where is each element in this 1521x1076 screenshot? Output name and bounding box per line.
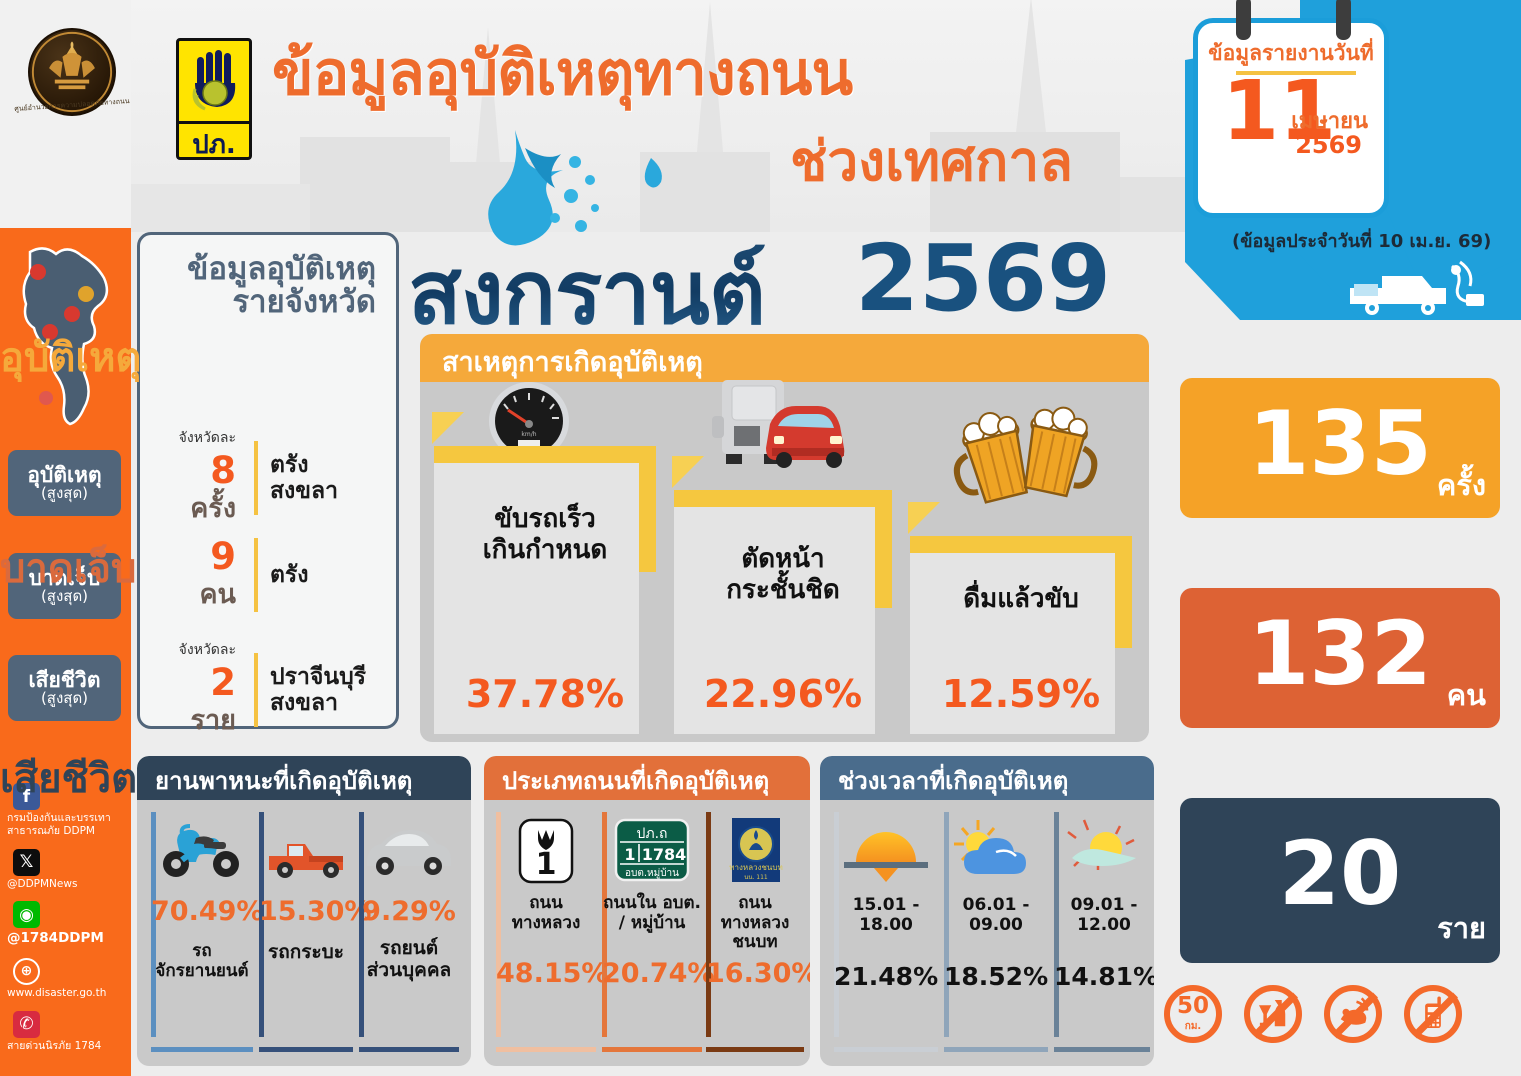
province-unit: คน bbox=[150, 572, 236, 615]
social-label: @1784DDPM bbox=[7, 930, 131, 946]
globe-icon[interactable]: ⊕ bbox=[13, 958, 40, 985]
calendar-ring-left bbox=[1236, 0, 1251, 40]
accidents-stat-unit: ครั้ง bbox=[1437, 462, 1486, 508]
svg-text:ทางหลวงชนบท: ทางหลวงชนบท bbox=[729, 863, 783, 872]
cause-percent: 37.78% bbox=[434, 672, 656, 716]
sidebar-item-deaths[interactable]: เสียชีวิต (สูงสุด) bbox=[8, 655, 121, 721]
province-unit: ครั้ง bbox=[150, 486, 236, 529]
column-base-line bbox=[496, 1047, 596, 1052]
accident-causes-chart: สาเหตุการเกิดอุบัติเหตุ km/h ขับรถเร็ว เ… bbox=[420, 334, 1149, 742]
column-base-line bbox=[834, 1047, 938, 1052]
time-col-2: 06.01 - 09.00 18.52% bbox=[944, 812, 1048, 1052]
province-title-line1: ข้อมูลอุบัติเหตุ bbox=[140, 253, 376, 286]
calendar-ring-right bbox=[1336, 0, 1351, 40]
speed-limit-value: 50 bbox=[1170, 995, 1216, 1018]
svg-text:1: 1 bbox=[536, 847, 557, 882]
vehicle-col-1: 70.49% รถจักรยานยนต์ bbox=[151, 812, 253, 1052]
temple-base bbox=[130, 184, 310, 232]
sedan-car-icon bbox=[359, 816, 459, 888]
province-names: ปราจีนบุรี สงขลา bbox=[270, 664, 366, 717]
road-percent: 16.30% bbox=[706, 958, 804, 989]
province-value-group: จังหวัดละ 8 ครั้ง bbox=[150, 427, 242, 529]
ddpm-hand-icon bbox=[191, 49, 243, 111]
vehicle-percent: 9.29% bbox=[359, 896, 459, 927]
x-twitter-icon[interactable]: 𝕏 bbox=[13, 849, 40, 876]
cause-label: ดื่มแล้วขับ bbox=[910, 584, 1132, 615]
svg-text:km/h: km/h bbox=[521, 431, 536, 438]
province-names: ตรัง สงขลา bbox=[270, 452, 338, 505]
social-line[interactable]: ◉ @1784DDPM bbox=[4, 901, 131, 946]
svg-text:นน. 111: นน. 111 bbox=[744, 874, 768, 881]
cause-label: ขับรถเร็ว เกินกำหนด bbox=[434, 504, 656, 565]
morning-sun-icon bbox=[1054, 816, 1154, 888]
sidebar-item-label: อุบัติเหตุ bbox=[27, 464, 101, 486]
time-label: 06.01 - 09.00 bbox=[944, 896, 1048, 935]
province-row-injuries: 9 คน ตรัง bbox=[150, 535, 392, 615]
svg-text:1784: 1784 bbox=[642, 845, 687, 864]
svg-text:อบต.หมู่บ้าน: อบต.หมู่บ้าน bbox=[625, 867, 679, 879]
social-label: www.disaster.go.th bbox=[7, 987, 131, 1000]
social-label: สายด่วนนิรภัย 1784 bbox=[7, 1040, 131, 1053]
province-names: ตรัง bbox=[270, 562, 309, 588]
column-base-line bbox=[259, 1047, 353, 1052]
page-title-line1: ข้อมูลอุบัติเหตุทางถนน bbox=[272, 24, 852, 121]
ddpm-logo: ปภ. bbox=[176, 38, 252, 160]
temple-silhouette bbox=[300, 137, 450, 232]
deaths-stat-box: 20 ราย bbox=[1180, 798, 1500, 963]
cause-corner-triangle bbox=[672, 456, 704, 488]
time-col-3: 09.01 - 12.00 14.81% bbox=[1054, 812, 1154, 1052]
page-title-year: 2569 bbox=[855, 225, 1111, 332]
time-label: 15.01 - 18.00 bbox=[834, 896, 938, 935]
column-base-line bbox=[602, 1047, 702, 1052]
province-row-deaths: จังหวัดละ 2 ราย ปราจีนบุรี สงขลา bbox=[150, 639, 392, 741]
province-prefix: จังหวัดละ bbox=[179, 642, 236, 658]
pickup-splash-illustration bbox=[1340, 260, 1500, 322]
time-percent: 21.48% bbox=[834, 962, 938, 991]
line-icon[interactable]: ◉ bbox=[13, 901, 40, 928]
road-col-2: ปภ.ถ 1 1784 อบต.หมู่บ้าน ถนนใน อบต. / หม… bbox=[602, 812, 702, 1052]
cause-percent: 22.96% bbox=[674, 672, 892, 716]
time-col-1: 15.01 - 18.00 21.48% bbox=[834, 812, 938, 1052]
road-panel-title: ประเภทถนนที่เกิดอุบัติเหตุ bbox=[484, 756, 810, 800]
province-row-divider bbox=[254, 441, 258, 515]
road-col-1: 1 ถนนทางหลวง 48.15% bbox=[496, 812, 596, 1052]
report-date-card: ข้อมูลรายงานวันที่ 11 เมษายน 2569 bbox=[1193, 18, 1389, 218]
svg-text:ปภ.ถ: ปภ.ถ bbox=[636, 826, 667, 842]
social-hotline[interactable]: ✆ สายด่วนนิรภัย 1784 bbox=[4, 1011, 131, 1053]
truck-car-collision-icon bbox=[704, 364, 854, 496]
road-label: ถนนใน อบต. / หมู่บ้าน bbox=[602, 894, 702, 933]
hotline-phone-icon[interactable]: ✆ bbox=[13, 1011, 40, 1038]
seal-caption: ศูนย์อำนวยการความปลอดภัยทางถนน bbox=[13, 96, 134, 144]
speed-limit-unit: กม. bbox=[1170, 1019, 1216, 1034]
cause-label: ตัดหน้า กระชั้นชิด bbox=[674, 544, 892, 605]
province-title-line2: รายจังหวัด bbox=[140, 286, 376, 319]
province-value-group: จังหวัดละ 2 ราย bbox=[150, 639, 242, 741]
vehicle-label: รถจักรยานยนต์ bbox=[151, 942, 253, 981]
social-links: f กรมป้องกันและบรรเทาสาธารณภัย DDPM 𝕏 @D… bbox=[4, 783, 131, 1063]
injuries-stat-label: บาดเจ็บ bbox=[0, 536, 136, 600]
vehicle-label: รถกระบะ bbox=[259, 942, 353, 964]
deaths-stat-unit: ราย bbox=[1437, 905, 1486, 951]
time-label: 09.01 - 12.00 bbox=[1054, 896, 1154, 935]
injuries-stat-unit: คน bbox=[1447, 672, 1486, 718]
report-year: 2569 bbox=[1295, 131, 1362, 159]
page-title-line2: ช่วงเทศกาล bbox=[790, 118, 1073, 205]
accidents-stat-box: 135 ครั้ง bbox=[1180, 378, 1500, 518]
road-label: ถนนทางหลวง ชนบท bbox=[706, 894, 804, 953]
sidebar-item-accidents[interactable]: อุบัติเหตุ (สูงสุด) bbox=[8, 450, 121, 516]
social-x[interactable]: 𝕏 @DDPMNews bbox=[4, 849, 131, 891]
ddpm-abbr: ปภ. bbox=[179, 124, 249, 165]
cause-corner-triangle bbox=[432, 412, 464, 444]
injuries-stat-box: 132 คน bbox=[1180, 588, 1500, 728]
sunset-icon bbox=[834, 816, 938, 888]
vehicle-label: รถยนต์ ส่วนบุคคล bbox=[359, 938, 459, 982]
cause-bar-2: ตัดหน้า กระชั้นชิด 22.96% bbox=[674, 486, 892, 734]
time-period-chart: ช่วงเวลาที่เกิดอุบัติเหตุ 15.01 - 18.00 … bbox=[820, 756, 1154, 1066]
cause-corner-triangle bbox=[908, 502, 940, 534]
vehicle-panel-title: ยานพาหนะที่เกิดอุบัติเหตุ bbox=[137, 756, 471, 800]
social-label: กรมป้องกันและบรรเทาสาธารณภัย DDPM bbox=[7, 812, 131, 838]
time-panel-title: ช่วงเวลาที่เกิดอุบัติเหตุ bbox=[820, 756, 1154, 800]
road-col-3: ทางหลวงชนบท นน. 111 ถนนทางหลวง ชนบท 16.3… bbox=[706, 812, 804, 1052]
vehicle-percent: 70.49% bbox=[151, 896, 253, 927]
sidebar-item-sublabel: (สูงสุด) bbox=[41, 691, 88, 707]
province-row-divider bbox=[254, 538, 258, 612]
vehicle-col-3: 9.29% รถยนต์ ส่วนบุคคล bbox=[359, 812, 459, 1052]
cause-percent: 12.59% bbox=[910, 672, 1132, 716]
highway-shield-sign-icon: 1 bbox=[496, 816, 596, 888]
accidents-stat-label: อุบัติเหตุ bbox=[0, 325, 141, 389]
motorcycle-icon bbox=[151, 816, 253, 888]
cause-bar-1: km/h ขับรถเร็ว เกินกำหนด 37.78% bbox=[434, 442, 656, 734]
road-type-chart: ประเภทถนนที่เกิดอุบัติเหตุ 1 ถนนทางหลวง … bbox=[484, 756, 810, 1066]
deaths-stat-label: เสียชีวิต bbox=[0, 746, 137, 810]
no-alcohol-icon bbox=[1244, 985, 1302, 1043]
social-website[interactable]: ⊕ www.disaster.go.th bbox=[4, 958, 131, 1000]
report-subnote: (ข้อมูลประจำวันที่ 10 เม.ย. 69) bbox=[1232, 226, 1491, 255]
column-base-line bbox=[706, 1047, 804, 1052]
column-base-line bbox=[359, 1047, 459, 1052]
svg-text:1: 1 bbox=[624, 845, 635, 864]
province-row-divider bbox=[254, 653, 258, 727]
column-base-line bbox=[1054, 1047, 1150, 1052]
village-road-sign-icon: ปภ.ถ 1 1784 อบต.หมู่บ้าน bbox=[602, 816, 702, 888]
road-percent: 20.74% bbox=[602, 958, 702, 989]
social-label: @DDPMNews bbox=[7, 878, 131, 891]
time-percent: 18.52% bbox=[944, 962, 1048, 991]
province-prefix: จังหวัดละ bbox=[179, 430, 236, 446]
vehicle-type-chart: ยานพาหนะที่เกิดอุบัติเหตุ 70.49% รถจักรย… bbox=[137, 756, 471, 1066]
speed-limit-50-icon: 50 กม. bbox=[1164, 985, 1222, 1043]
sidebar-item-label: เสียชีวิต bbox=[29, 669, 101, 691]
province-panel-title: ข้อมูลอุบัติเหตุ รายจังหวัด bbox=[140, 253, 396, 320]
beer-mugs-icon bbox=[950, 392, 1100, 542]
province-unit: ราย bbox=[150, 698, 236, 741]
vehicle-percent: 15.30% bbox=[259, 896, 353, 927]
vehicle-col-2: 15.30% รถกระบะ bbox=[259, 812, 353, 1052]
road-label: ถนนทางหลวง bbox=[496, 894, 596, 933]
province-row-accidents: จังหวัดละ 8 ครั้ง ตรัง สงขลา bbox=[150, 427, 392, 529]
column-base-line bbox=[151, 1047, 253, 1052]
column-base-line bbox=[944, 1047, 1048, 1052]
no-mobile-phone-icon bbox=[1404, 985, 1462, 1043]
road-percent: 48.15% bbox=[496, 958, 596, 989]
safety-warning-icons: 50 กม. bbox=[1164, 985, 1504, 1055]
sidebar-item-sublabel: (สูงสุด) bbox=[41, 486, 88, 502]
no-water-splashing-icon bbox=[1324, 985, 1382, 1043]
province-stats-panel: ข้อมูลอุบัติเหตุ รายจังหวัด จังหวัดละ 8 … bbox=[137, 232, 399, 729]
pickup-truck-icon bbox=[259, 816, 353, 888]
rural-highway-emblem-icon: ทางหลวงชนบท นน. 111 bbox=[706, 816, 804, 888]
sun-cloud-icon bbox=[944, 816, 1048, 888]
province-value-group: 9 คน bbox=[150, 535, 242, 615]
cause-bar-3: ดื่มแล้วขับ 12.59% bbox=[910, 532, 1132, 734]
time-percent: 14.81% bbox=[1054, 962, 1154, 991]
